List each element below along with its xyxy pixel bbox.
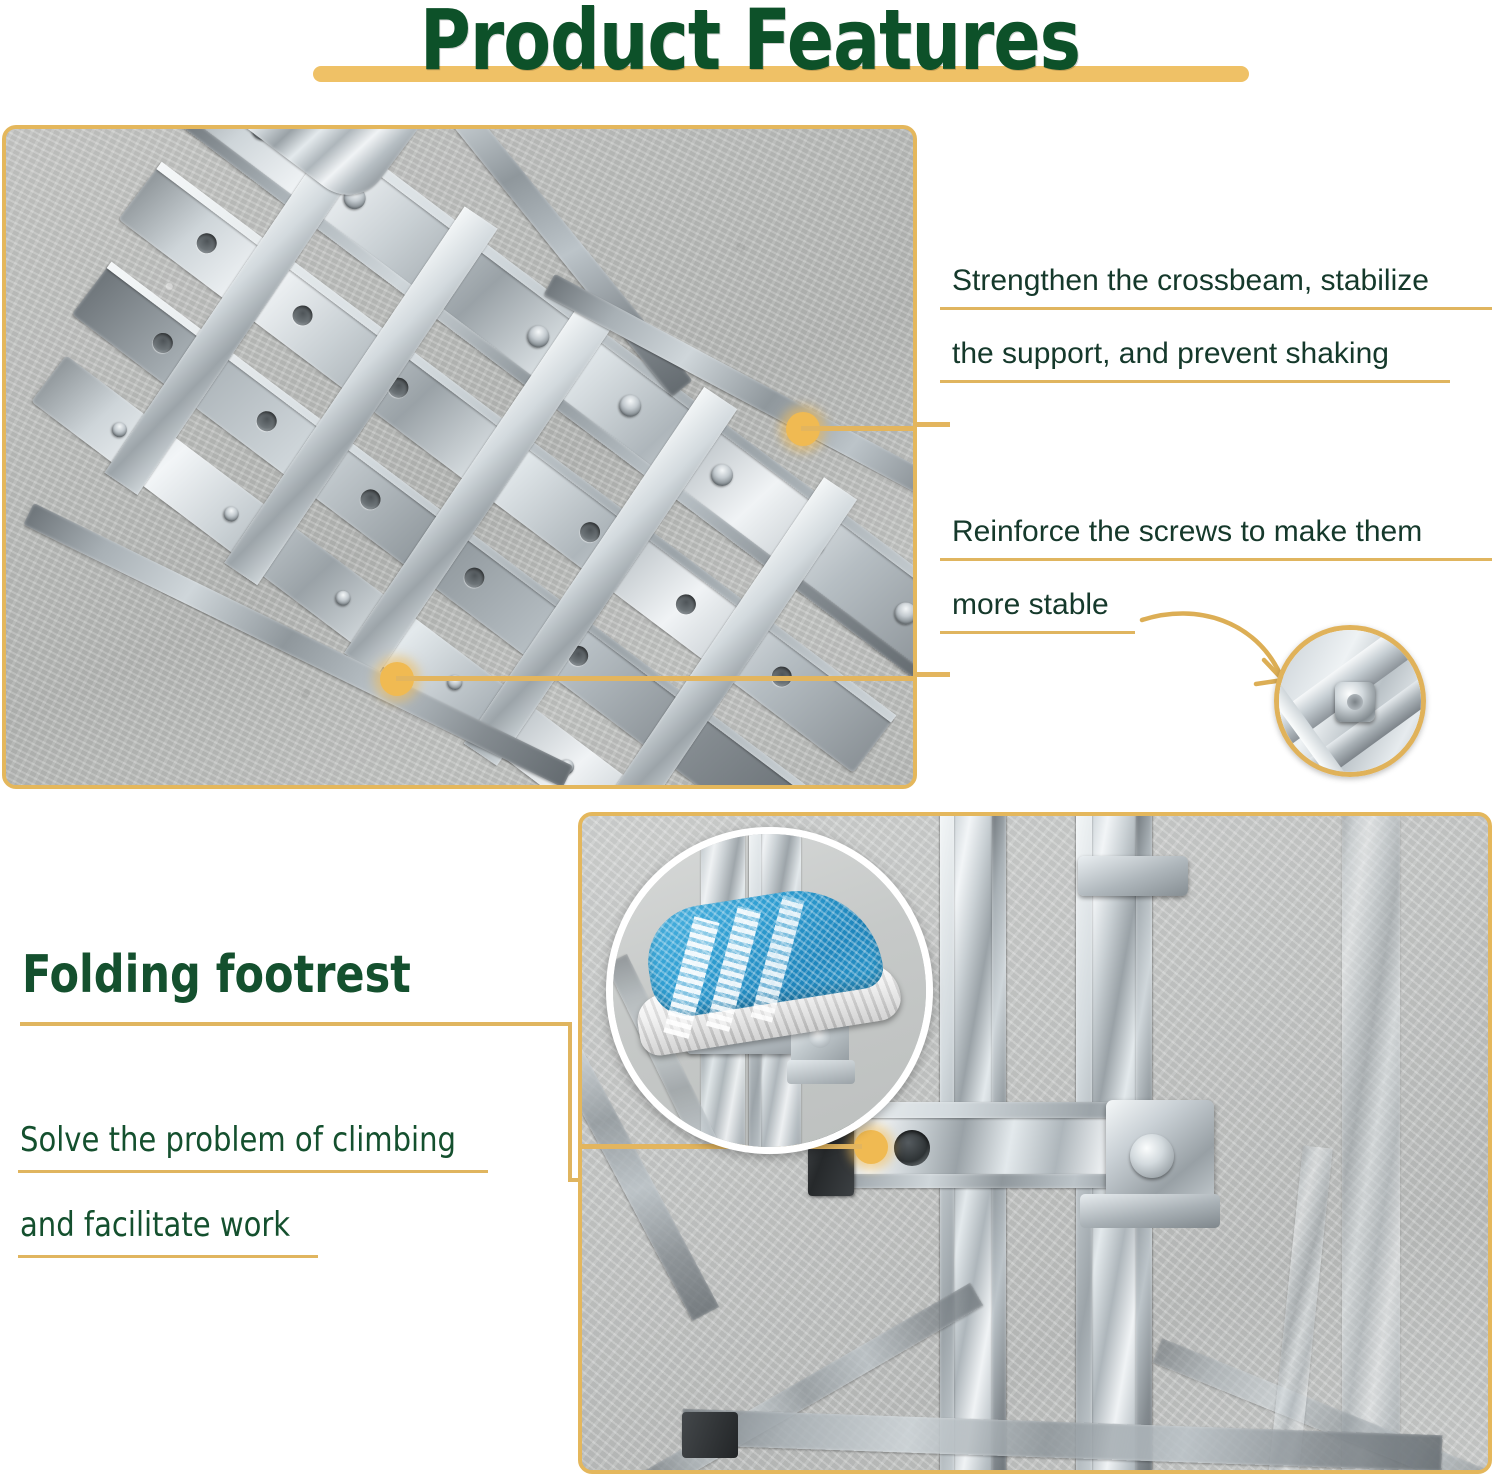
- footrest-body-rule-1: [18, 1170, 488, 1173]
- footrest-body-line-1: Solve the problem of climbing: [20, 1120, 456, 1160]
- footrest-connector-horizontal-top: [20, 1022, 572, 1026]
- callout-screws-rule-1: [940, 558, 1492, 561]
- callout-screws-rule-2: [940, 631, 1135, 634]
- leader-line-crossbeam: [801, 426, 917, 431]
- title-block: Product Features: [0, 0, 1500, 110]
- photo-top-ladder-crossbeam: [2, 125, 917, 789]
- footrest-body-line-2: and facilitate work: [20, 1205, 290, 1245]
- footrest-connector-vertical: [568, 1022, 572, 1182]
- callout-screws-line-1: Reinforce the screws to make them: [952, 515, 1422, 549]
- pivot-pin: [1130, 1134, 1174, 1178]
- leader-line-crossbeam-ext: [915, 422, 950, 427]
- footrest-body-rule-2: [18, 1255, 318, 1258]
- product-features-infographic: Product Features: [0, 0, 1500, 1476]
- ladder-post-right: [1342, 812, 1400, 1474]
- callout-crossbeam-line-2: the support, and prevent shaking: [952, 337, 1389, 371]
- inset-screw-closeup: [1274, 625, 1426, 777]
- bracket-lower-lip: [1080, 1194, 1220, 1228]
- leader-line-screws: [396, 676, 917, 681]
- callout-screws-line-2: more stable: [952, 588, 1109, 622]
- weld-block: [1078, 856, 1188, 896]
- callout-crossbeam-rule-1: [940, 307, 1492, 310]
- inset-shoe-on-footrest: [606, 827, 933, 1154]
- section-heading-folding-footrest: Folding footrest: [22, 945, 411, 1005]
- leader-line-screws-ext: [915, 672, 950, 677]
- callout-crossbeam-line-1: Strengthen the crossbeam, stabilize: [952, 264, 1429, 298]
- page-title: Product Features: [60, 0, 1440, 84]
- callout-crossbeam-rule-2: [940, 380, 1450, 383]
